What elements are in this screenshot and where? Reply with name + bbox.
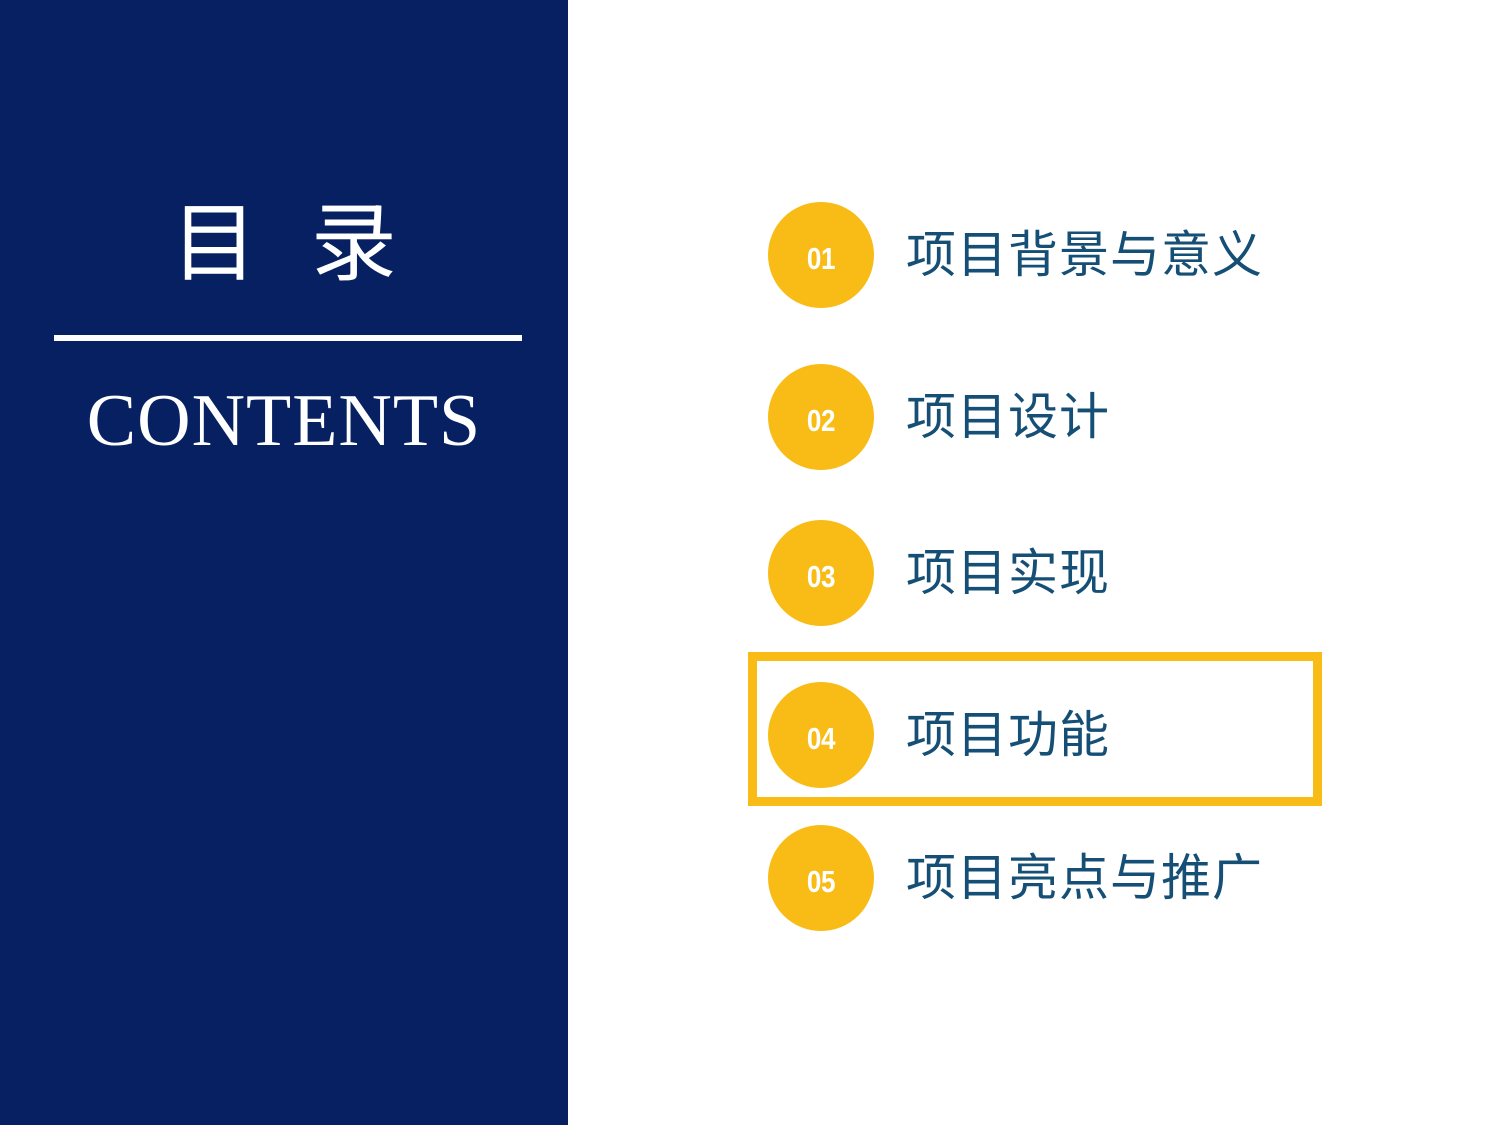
toc-item-label-02: 项目设计 [906,364,1110,470]
badge-number-label: 02 [776,364,865,470]
badge-number-label: 01 [776,202,865,308]
badge-number-label: 03 [776,520,865,626]
contents-list: 01 项目背景与意义 02 项目设计 03 项目实现 04 项目功能 05 [568,0,1500,1125]
left-title-panel: 目 录 CONTENTS [0,0,568,1125]
toc-item-05[interactable]: 05 项目亮点与推广 [568,825,1500,931]
toc-item-label-04: 项目功能 [906,682,1110,788]
toc-item-label-01: 项目背景与意义 [906,202,1263,308]
number-badge-05: 05 [768,825,874,931]
badge-number-label: 05 [776,825,865,931]
number-badge-03: 03 [768,520,874,626]
number-badge-01: 01 [768,202,874,308]
toc-item-label-03: 项目实现 [906,520,1110,626]
toc-item-03[interactable]: 03 项目实现 [568,520,1500,626]
toc-item-01[interactable]: 01 项目背景与意义 [568,202,1500,308]
toc-item-label-05: 项目亮点与推广 [906,825,1263,931]
badge-number-label: 04 [776,682,865,788]
toc-slide: 目 录 CONTENTS 01 项目背景与意义 02 项目设计 03 项目实现 … [0,0,1500,1125]
number-badge-02: 02 [768,364,874,470]
page-subtitle: CONTENTS [0,377,568,465]
title-divider [54,335,522,341]
toc-item-02[interactable]: 02 项目设计 [568,364,1500,470]
number-badge-04: 04 [768,682,874,788]
page-title: 目 录 [0,196,568,292]
toc-item-04[interactable]: 04 项目功能 [568,682,1500,788]
